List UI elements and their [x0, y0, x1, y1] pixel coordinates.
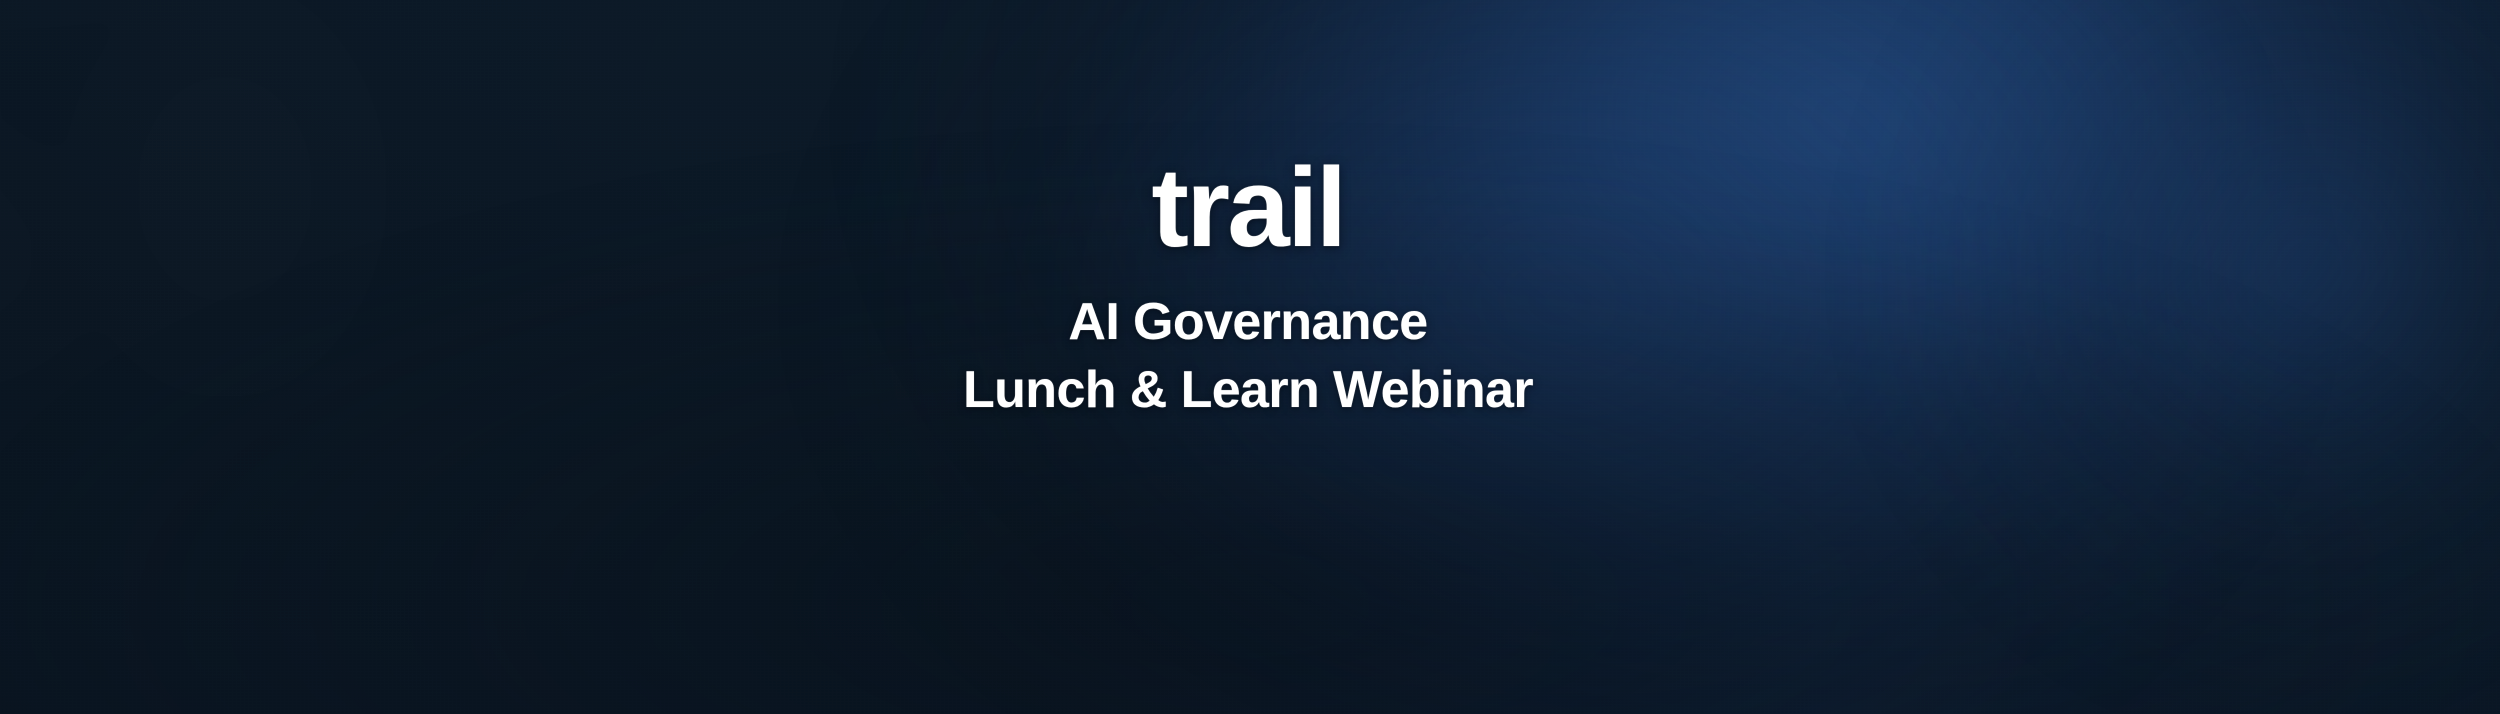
subtitle-line-1: AI Governance: [1068, 292, 1427, 352]
banner-text-stack: trail AI Governance Lunch & Learn Webina…: [963, 0, 1533, 421]
banner-content: trail AI Governance Lunch & Learn Webina…: [0, 0, 2500, 714]
banner-subtitle: AI Governance Lunch & Learn Webinar: [963, 292, 1533, 421]
subtitle-line-2: Lunch & Learn Webinar: [963, 360, 1533, 420]
webinar-hero-banner: trail AI Governance Lunch & Learn Webina…: [0, 0, 2500, 714]
brand-logo-wordmark: trail: [1152, 152, 1345, 264]
